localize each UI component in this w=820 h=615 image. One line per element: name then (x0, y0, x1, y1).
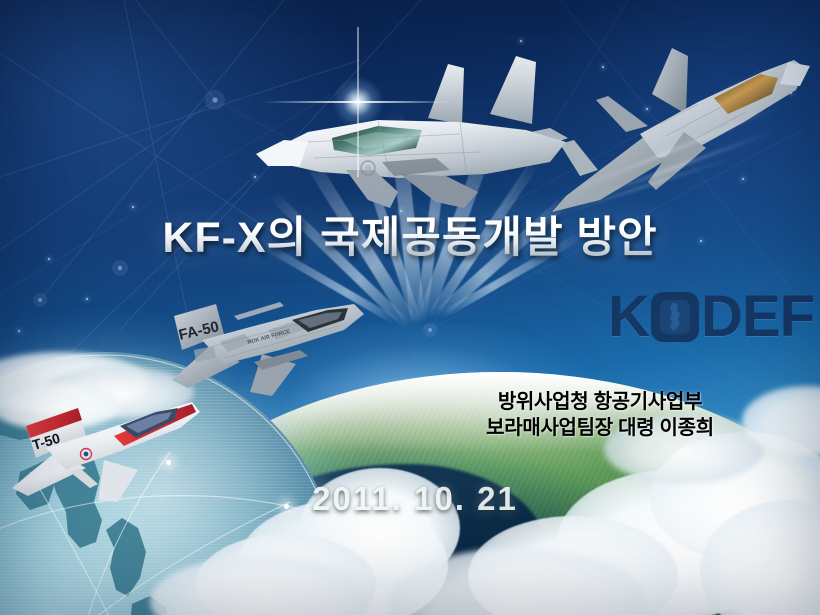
presentation-title-slide: FA-50 ROK AIR FORCE (0, 0, 820, 615)
kodef-logo-text-after: DEF (701, 288, 814, 346)
presentation-date: 2011. 10. 21 (250, 480, 580, 518)
kodef-logo-o-with-peninsula (649, 289, 701, 345)
stealth-fighter-foreground (250, 42, 590, 222)
kodef-logo-text-before: K (608, 288, 649, 346)
presenter-info: 방위사업청 항공기사업부 보라매사업팀장 대령 이종희 (420, 389, 780, 442)
presenter-organization: 방위사업청 항공기사업부 (420, 389, 780, 415)
presenter-name-rank: 보라매사업팀장 대령 이종희 (420, 415, 780, 441)
kodef-logo: K DEF (608, 288, 814, 346)
korean-peninsula-icon (649, 289, 701, 345)
page-title: KF-X의 국제공동개발 방안 (0, 215, 820, 261)
fa-50-fighter: FA-50 ROK AIR FORCE (158, 288, 378, 403)
t-50-trainer: T-50 (0, 392, 204, 510)
